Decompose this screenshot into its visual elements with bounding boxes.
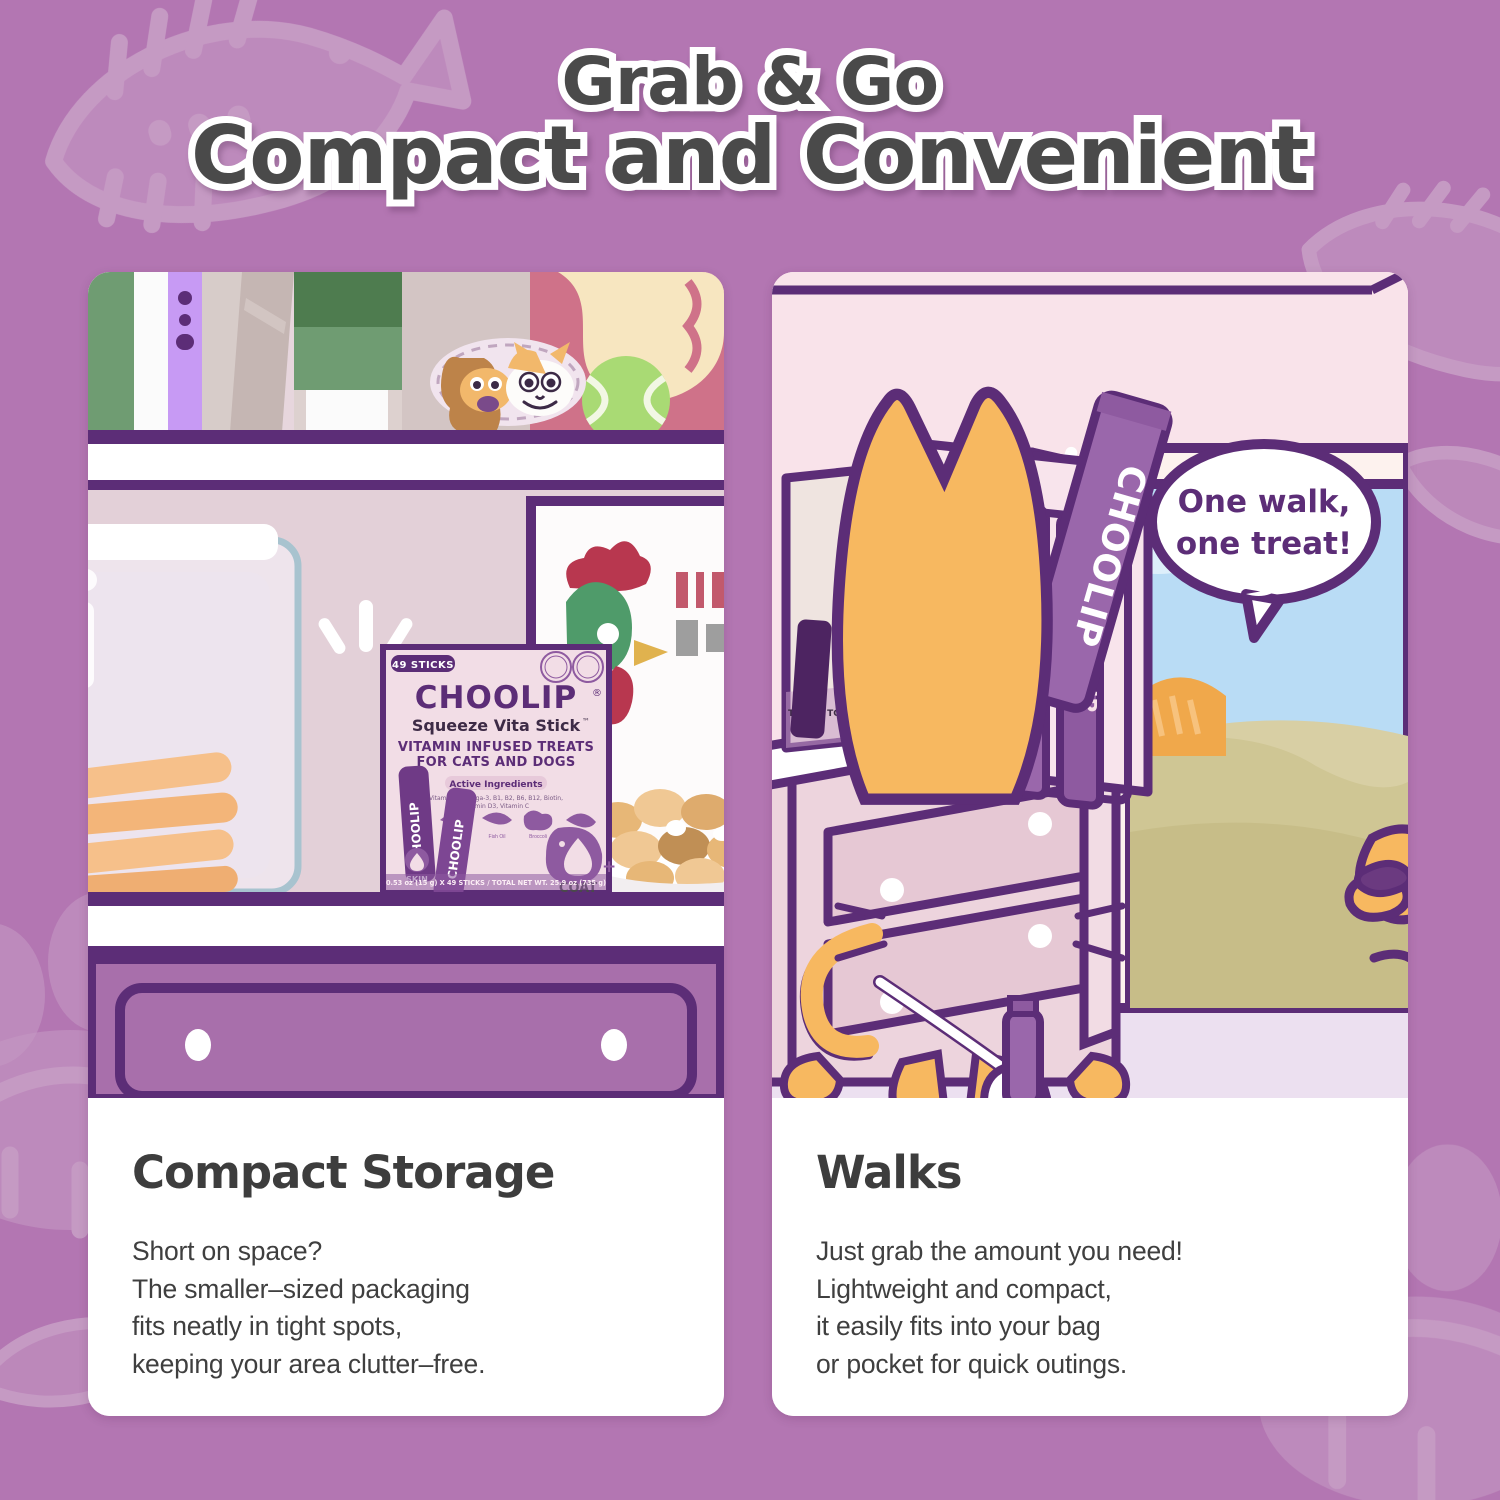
caption-compact-storage: Compact Storage Short on space? The smal… (88, 1098, 724, 1416)
feature-card-walks: One walk, one treat! (772, 272, 1408, 1416)
cereal-box-title (676, 572, 724, 608)
book-white (134, 272, 168, 432)
shelf-board (88, 444, 724, 480)
svg-text:Broccoli: Broccoli (529, 834, 547, 840)
caption-body: Short on space? The smaller–sized packag… (132, 1233, 680, 1384)
svg-text:CHOOLIP: CHOOLIP (415, 680, 577, 716)
svg-text:Squeeze Vita Stick: Squeeze Vita Stick (412, 716, 581, 735)
page-title: Grab & Go Compact and Convenient (0, 48, 1500, 197)
product-box-front: 49 STICKS CHOOLIP ® Squeeze Vita Stick ™… (380, 644, 616, 902)
book-green (88, 272, 134, 432)
svg-text:VITAMIN INFUSED TREATS: VITAMIN INFUSED TREATS (398, 740, 594, 755)
svg-text:FOR CATS AND DOGS: FOR CATS AND DOGS (416, 755, 575, 770)
green-box (294, 327, 402, 390)
headline-line-1: Grab & Go (0, 48, 1500, 115)
headline-block: Grab & Go Compact and Convenient (0, 48, 1500, 197)
caption-body: Just grab the amount you need! Lightweig… (816, 1233, 1364, 1384)
svg-text:Active Ingredients: Active Ingredients (449, 780, 542, 790)
caption-walks: Walks Just grab the amount you need! Lig… (772, 1098, 1408, 1416)
caption-title: Walks (816, 1146, 1364, 1199)
shelf-edge-top (88, 430, 724, 444)
svg-text:Fish Oil: Fish Oil (489, 834, 506, 840)
drawer-knob-right (601, 1029, 627, 1061)
speech-line-1: One walk, (1178, 484, 1351, 520)
svg-text:™: ™ (582, 717, 590, 726)
feature-card-compact-storage: CHOOLIP CHOOLIP CHOOLIP (88, 272, 724, 1416)
headline-line-2: Compact and Convenient (0, 115, 1500, 197)
speech-line-2: one treat! (1176, 526, 1352, 562)
drawer-knob-left (185, 1029, 211, 1061)
glass-jar (88, 524, 298, 905)
svg-text:0.53 oz (15 g) X 49 STICKS / T: 0.53 oz (15 g) X 49 STICKS / TOTAL NET W… (386, 879, 606, 887)
svg-text:49 STICKS: 49 STICKS (392, 660, 454, 671)
svg-text:®: ® (592, 688, 602, 699)
caption-title: Compact Storage (132, 1146, 680, 1199)
green-box-lid (294, 272, 402, 327)
illustration-doorway-cat: One walk, one treat! (772, 272, 1408, 1098)
illustration-pantry-shelf: CHOOLIP CHOOLIP CHOOLIP (88, 272, 724, 1098)
